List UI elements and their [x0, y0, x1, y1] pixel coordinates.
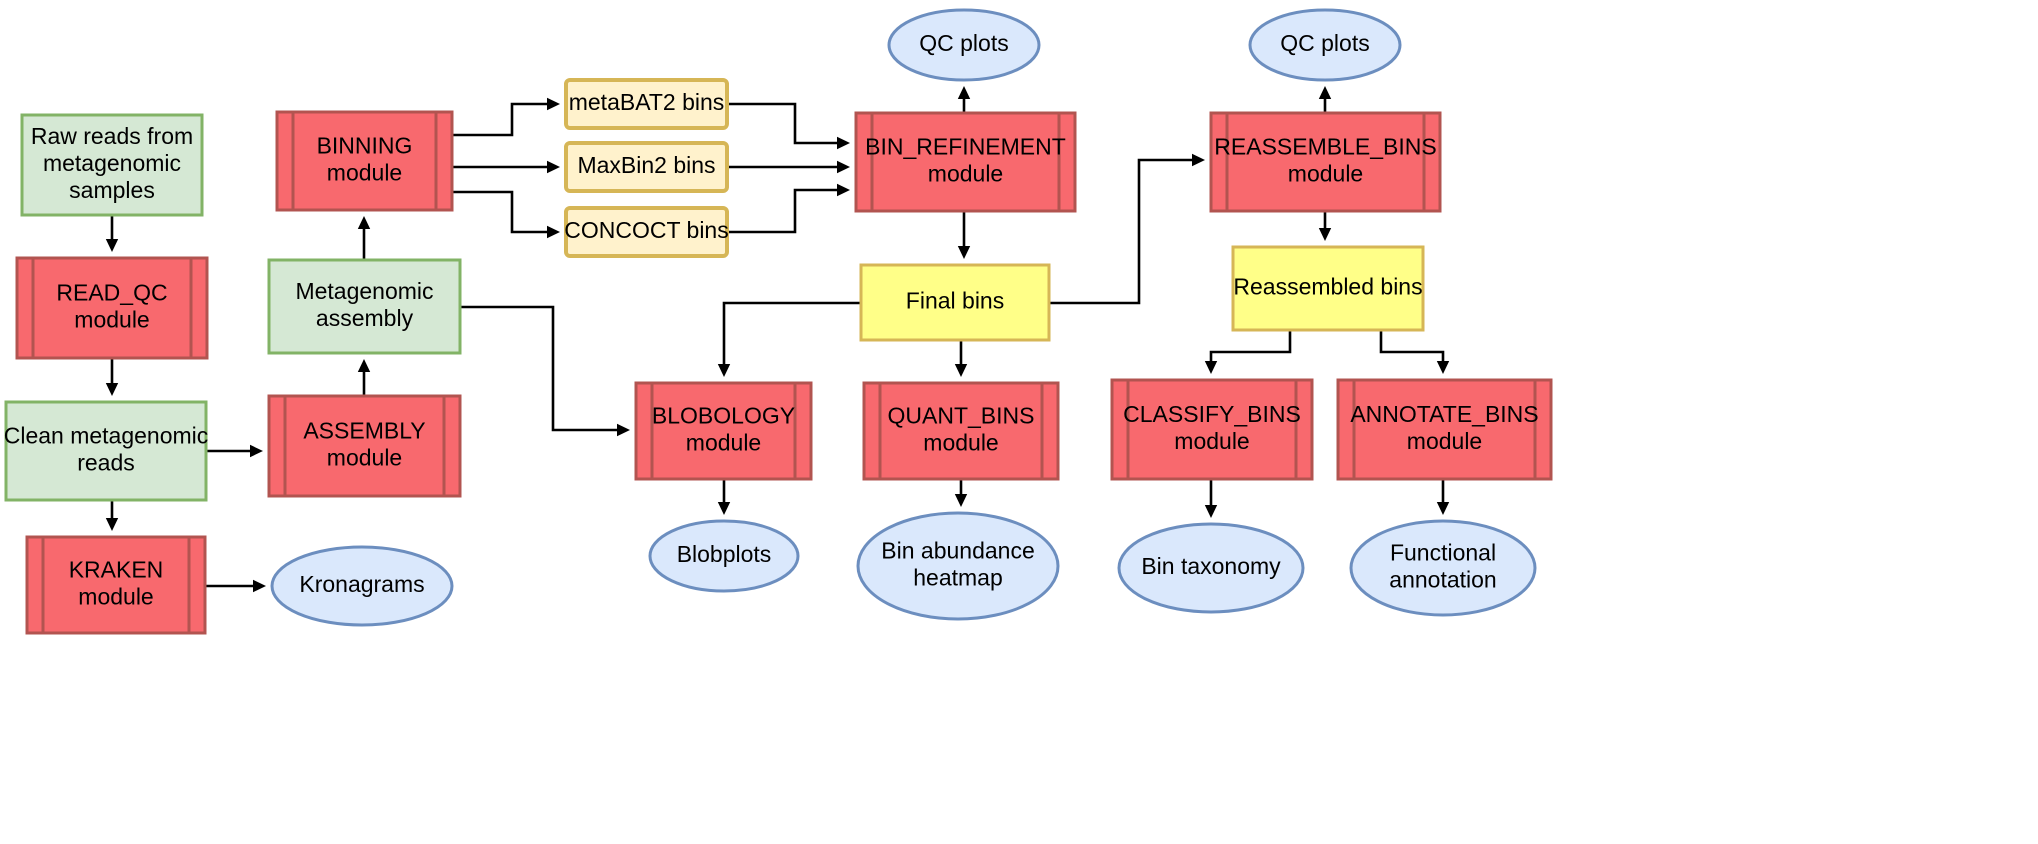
edge-binning-to-metabat2	[452, 98, 560, 135]
node-bin-abundance-heatmap[interactable]: Bin abundanceheatmap	[858, 513, 1058, 619]
edge-annotate-to-funcann	[1437, 479, 1449, 515]
edge-refine-to-finalbins	[958, 211, 970, 259]
node-functional-annotation[interactable]: Functionalannotation	[1351, 521, 1535, 615]
node-bin-refinement[interactable]: BIN_REFINEMENTmodule	[856, 113, 1075, 211]
node-blobplots[interactable]: Blobplots	[650, 521, 798, 591]
edge-classify-to-taxonomy	[1205, 479, 1217, 518]
node-assembly[interactable]: ASSEMBLYmodule	[269, 396, 460, 496]
edge-reasm-to-reasmbins	[1319, 211, 1331, 241]
edge-clean-to-assembly	[206, 445, 263, 457]
node-maxbin2-bins[interactable]: MaxBin2 bins	[566, 143, 727, 191]
node-qc-plots-right[interactable]: QC plots	[1250, 10, 1400, 80]
node-concoct-bins[interactable]: CONCOCT bins	[564, 208, 728, 256]
edge-concoct-to-refine	[727, 184, 850, 232]
edge-binning-to-maxbin2	[452, 161, 560, 173]
node-blobology[interactable]: BLOBOLOGYmodule	[636, 383, 811, 479]
node-metabat2-bins[interactable]: metaBAT2 bins	[566, 80, 727, 128]
edge-binning-to-concoct	[452, 192, 560, 238]
node-reassembled-bins[interactable]: Reassembled bins	[1233, 247, 1423, 330]
flowchart-canvas: Raw reads frommetagenomicsamplesREAD_QCm…	[0, 0, 2038, 844]
edge-readqc-to-clean	[106, 358, 118, 396]
edge-blobo-to-blobplots	[718, 479, 730, 515]
node-raw-reads[interactable]: Raw reads frommetagenomicsamples	[22, 115, 202, 215]
node-final-bins[interactable]: Final bins	[861, 265, 1049, 340]
node-quant-bins[interactable]: QUANT_BINSmodule	[864, 383, 1058, 479]
edge-quant-to-heatmap	[955, 479, 967, 507]
edge-reasm-to-qcplots	[1319, 86, 1331, 113]
edge-reasmbins-to-classify	[1205, 330, 1290, 374]
node-read-qc[interactable]: READ_QCmodule	[17, 258, 207, 358]
node-kronagrams[interactable]: Kronagrams	[272, 547, 452, 625]
node-qc-plots-left[interactable]: QC plots	[889, 10, 1039, 80]
edge-maxbin2-to-refine	[727, 161, 850, 173]
node-clean-reads[interactable]: Clean metagenomicreads	[4, 402, 209, 500]
node-kraken[interactable]: KRAKENmodule	[27, 537, 205, 633]
node-annotate-bins[interactable]: ANNOTATE_BINSmodule	[1338, 380, 1551, 479]
edge-kraken-to-krona	[205, 580, 266, 592]
edge-raw-to-readqc	[106, 215, 118, 252]
edge-metagen-to-binning	[358, 216, 370, 260]
edge-metabat2-to-refine	[727, 104, 850, 149]
edge-metagen-to-blobo	[460, 307, 630, 436]
node-reassemble-bins[interactable]: REASSEMBLE_BINSmodule	[1211, 113, 1440, 211]
pipeline-flowchart: Raw reads frommetagenomicsamplesREAD_QCm…	[0, 0, 2038, 844]
node-metagenomic-assembly[interactable]: Metagenomicassembly	[269, 260, 460, 353]
edge-finalbins-to-blobo	[718, 303, 861, 377]
node-bin-taxonomy[interactable]: Bin taxonomy	[1119, 524, 1303, 612]
edge-finalbins-to-quant	[955, 340, 967, 377]
node-binning[interactable]: BINNINGmodule	[277, 112, 452, 210]
edge-clean-to-kraken	[106, 500, 118, 531]
edge-reasmbins-to-annotate	[1381, 330, 1449, 374]
node-classify-bins[interactable]: CLASSIFY_BINSmodule	[1112, 380, 1312, 479]
edge-assembly-to-metagen	[358, 359, 370, 396]
edge-refine-to-qcplots	[958, 86, 970, 113]
